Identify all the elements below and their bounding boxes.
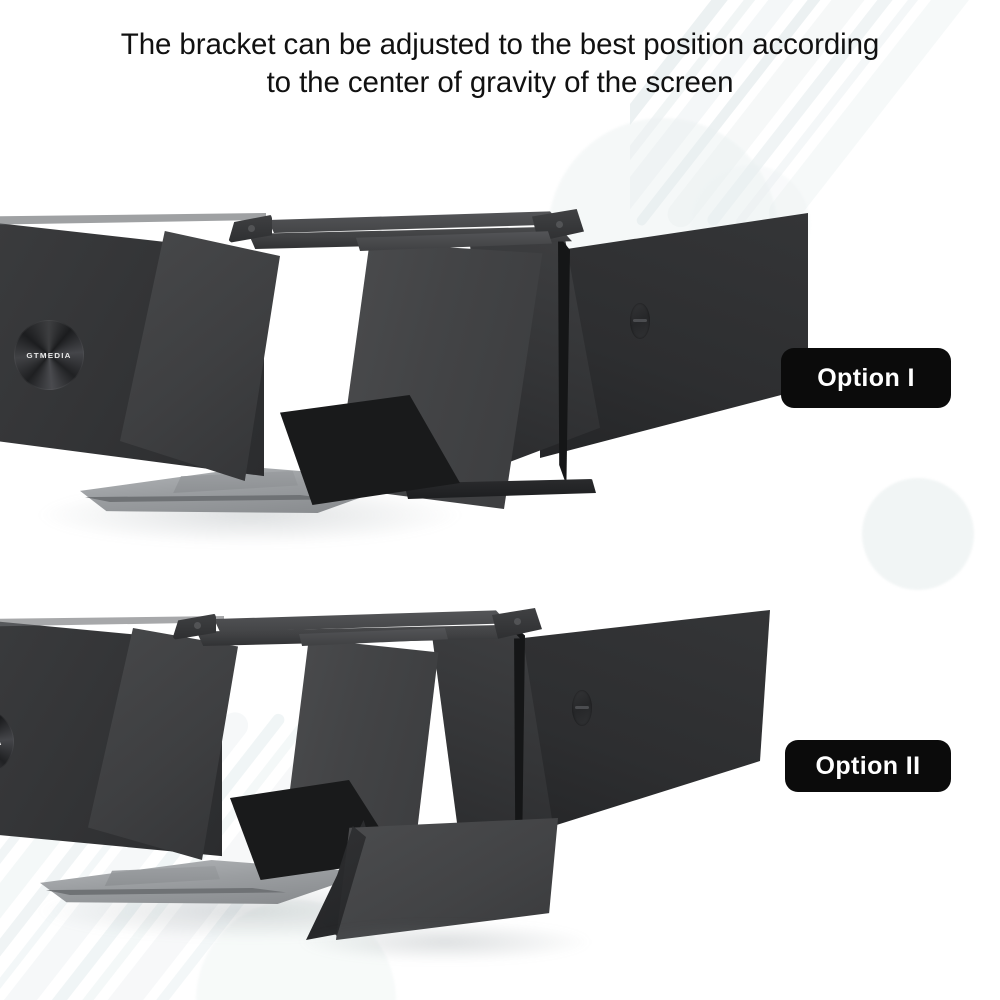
gtmedia-logo-badge: GTMEDIA	[14, 320, 84, 390]
product-photo-option-1: GTMEDIA	[0, 195, 770, 545]
option-1-badge-label: Option I	[817, 364, 915, 393]
triangle-stand-shadow	[300, 922, 590, 962]
hinge-screw-right	[514, 618, 521, 625]
page-title-line-2: to the center of gravity of the screen	[12, 64, 988, 102]
page-title: The bracket can be adjusted to the best …	[0, 26, 1000, 102]
hinge-screw-left	[194, 622, 201, 629]
page-title-line-1: The bracket can be adjusted to the best …	[12, 26, 988, 64]
product-feature-slide: The bracket can be adjusted to the best …	[0, 0, 1000, 1000]
gtmedia-logo-text: GTMEDIA	[26, 351, 71, 359]
right-wing-mount-detail	[630, 303, 650, 339]
hinge-screw-left	[248, 225, 255, 232]
option-1-badge[interactable]: Option I	[781, 348, 951, 408]
decor-circle-mid-right	[862, 478, 974, 590]
hinge-screw-right	[556, 221, 563, 228]
option-2-badge-label: Option II	[816, 752, 921, 781]
right-display-wing	[520, 610, 770, 846]
gtmedia-logo-text: GTMEDIA	[0, 738, 3, 746]
left-wing-top-bezel	[0, 213, 266, 225]
right-wing-mount-detail	[572, 690, 592, 726]
product-photo-option-2: GTMEDIA	[0, 590, 770, 940]
option-2-badge[interactable]: Option II	[785, 740, 951, 792]
